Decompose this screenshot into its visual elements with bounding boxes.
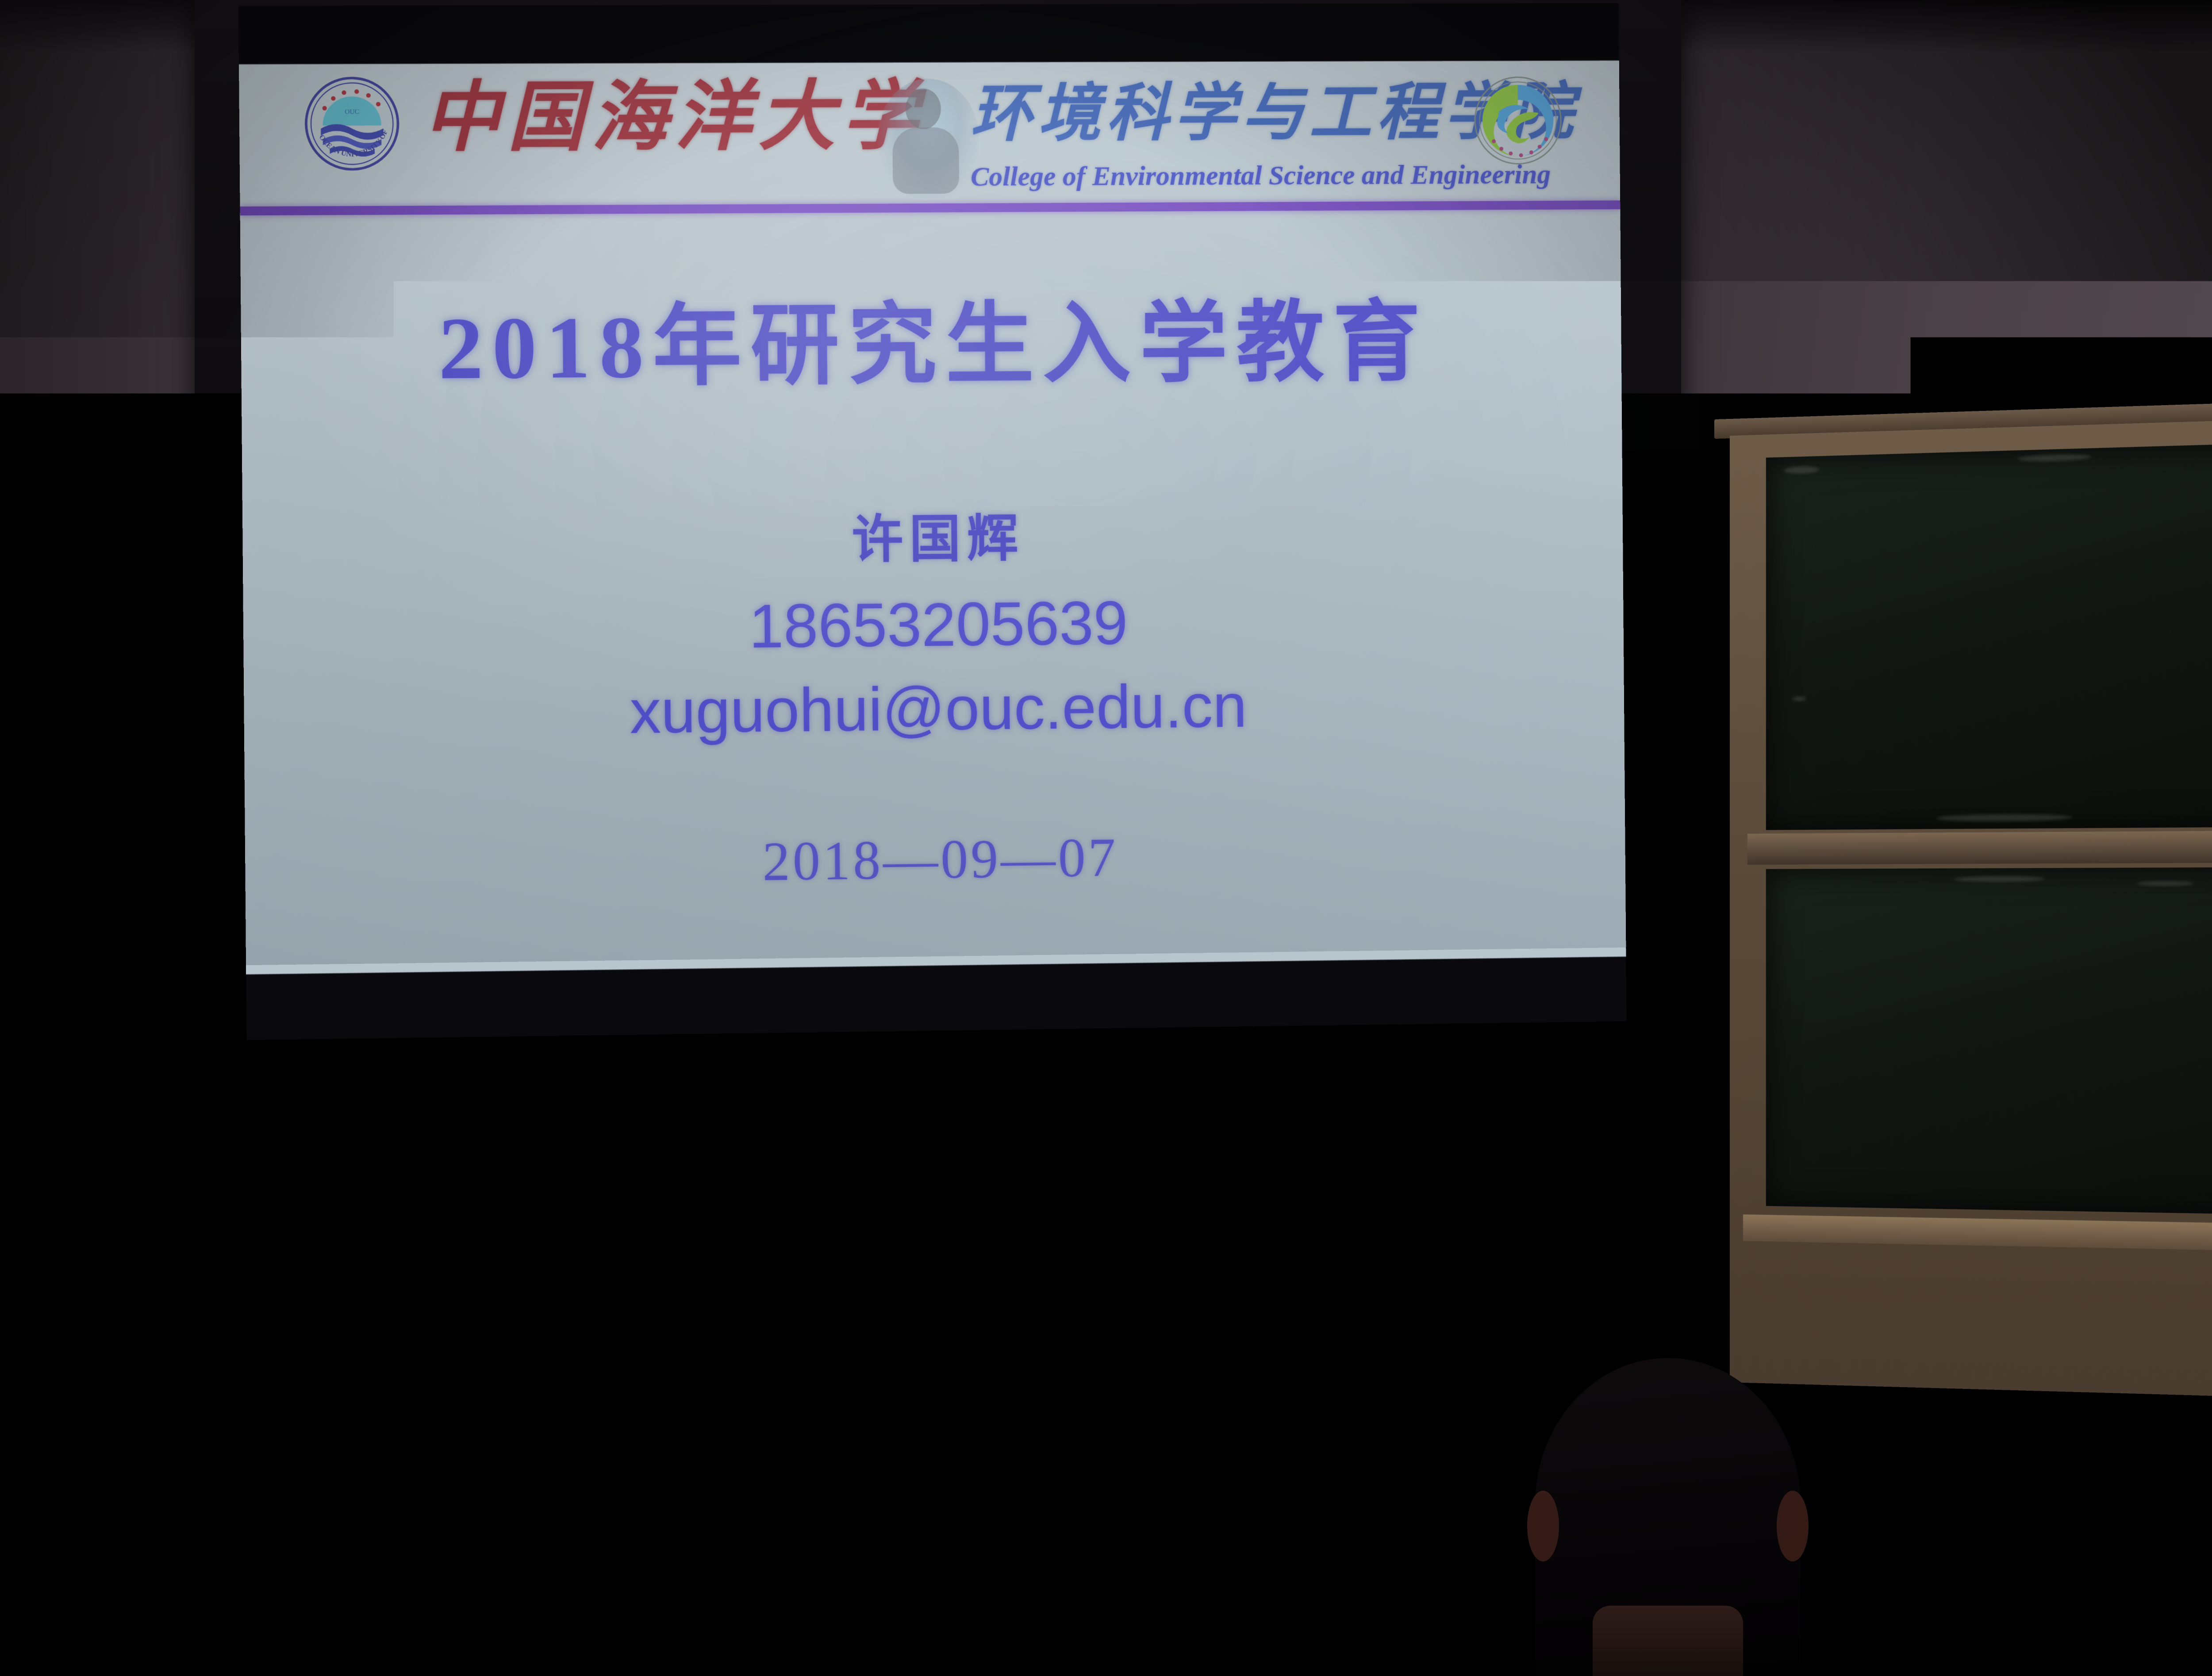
presentation-slide: OUC OCEAN UNIVERSITY OF CHINA 中国海洋大学 环境科…	[239, 61, 1626, 966]
slide-date: 2018—09—07	[245, 825, 1625, 896]
presenter-ear	[1273, 1235, 1293, 1268]
foreground-shadow	[0, 1495, 2212, 1676]
projection-screen-assembly: OUC OCEAN UNIVERSITY OF CHINA 中国海洋大学 环境科…	[195, 0, 1681, 1066]
light-switch-plate[interactable]	[211, 1311, 244, 1357]
blackboard-panel-upper	[1766, 441, 2212, 830]
slide-watermark-figure	[877, 79, 979, 199]
light-switch-plate[interactable]	[439, 1305, 472, 1351]
light-switch-plate[interactable]	[156, 1312, 189, 1358]
wall-speaker-left	[1159, 1323, 1183, 1400]
presenter-glasses-icon	[1321, 1235, 1413, 1259]
presenter-shirt-placket	[1334, 1384, 1344, 1477]
light-switch-plate[interactable]	[494, 1304, 527, 1350]
light-switch-plate[interactable]	[265, 1309, 299, 1355]
presenter-hair	[1272, 1154, 1412, 1242]
slide-phone: 18653205639	[243, 587, 1624, 662]
light-switch-plate[interactable]	[384, 1306, 418, 1352]
wall-mounted-eraser[interactable]	[1048, 1392, 1160, 1418]
college-name-cn: 环境科学与工程学院	[970, 73, 1467, 153]
blackboard-panel-divider	[1747, 830, 2212, 865]
wall-left-shadow	[0, 0, 208, 1084]
blackboard-panel-lower	[1766, 867, 2212, 1216]
slide-header-band: OUC OCEAN UNIVERSITY OF CHINA 中国海洋大学 环境科…	[239, 61, 1620, 208]
environmental-college-emblem-icon	[1471, 73, 1565, 168]
classroom-scene: OUC OCEAN UNIVERSITY OF CHINA 中国海洋大学 环境科…	[0, 0, 2212, 1676]
ocean-university-seal-icon: OUC OCEAN UNIVERSITY OF CHINA	[303, 75, 401, 173]
svg-text:OUC: OUC	[345, 108, 359, 116]
light-switch-plate[interactable]	[329, 1308, 363, 1354]
slide-author: 许国辉	[242, 509, 1623, 571]
sliding-blackboard	[1730, 408, 2212, 1450]
wall-right-shadow	[1659, 0, 2212, 442]
slide-title: 2018年研究生入学教育	[241, 298, 1621, 395]
slide-header-divider	[240, 200, 1621, 215]
slide-email: xuguohui@ouc.edu.cn	[244, 671, 1624, 747]
light-switch-plate[interactable]	[101, 1313, 134, 1359]
light-switch-plate[interactable]	[46, 1315, 80, 1361]
